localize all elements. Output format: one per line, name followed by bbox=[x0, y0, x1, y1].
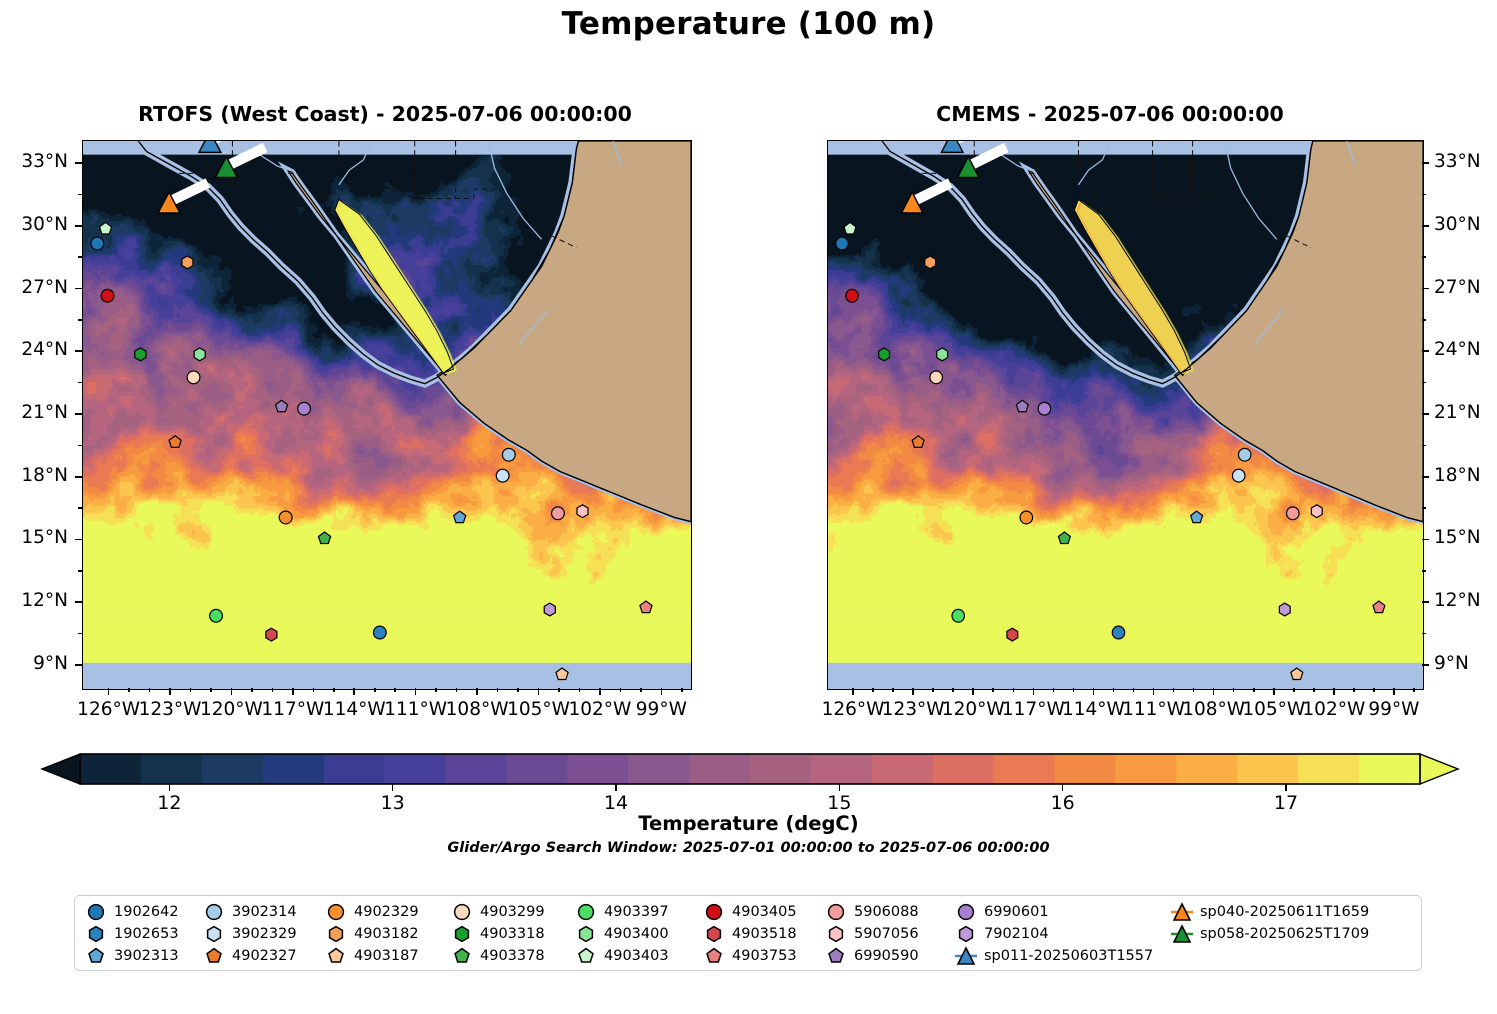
legend-item[interactable]: 3902314 bbox=[203, 901, 297, 923]
lon-tick-label: 99°W bbox=[619, 699, 703, 720]
lon-tick bbox=[538, 688, 540, 695]
lat-tick-minor bbox=[1422, 256, 1426, 258]
lat-tick-label: 21°N bbox=[0, 402, 68, 423]
lat-tick-label: 33°N bbox=[0, 151, 68, 172]
lat-tick-minor bbox=[78, 507, 82, 509]
lon-tick-minor bbox=[1193, 688, 1195, 692]
legend-item[interactable]: 1902653 bbox=[85, 923, 179, 945]
lon-tick-minor bbox=[1353, 688, 1355, 692]
legend-item-label: 4902329 bbox=[351, 904, 419, 920]
lon-tick-minor bbox=[1053, 688, 1055, 692]
lon-tick bbox=[1033, 688, 1035, 695]
search-window-note: Glider/Argo Search Window: 2025-07-01 00… bbox=[0, 840, 1497, 856]
legend-item-label: 1902653 bbox=[111, 926, 179, 942]
lon-tick-minor bbox=[1253, 688, 1255, 692]
lon-tick bbox=[169, 688, 171, 695]
lat-tick bbox=[1422, 664, 1429, 666]
argo-hexagon-marker-icon bbox=[325, 923, 351, 945]
lat-tick bbox=[1422, 288, 1429, 290]
lat-tick-label: 15°N bbox=[0, 527, 68, 548]
legend-item-label: 7902104 bbox=[981, 926, 1049, 942]
argo-pentagon-marker-icon bbox=[325, 945, 351, 967]
lon-tick bbox=[1393, 688, 1395, 695]
argo-hexagon-marker-icon bbox=[703, 923, 729, 945]
legend-item[interactable]: 3902329 bbox=[203, 923, 297, 945]
lon-tick bbox=[415, 688, 417, 695]
lon-tick-minor bbox=[333, 688, 335, 692]
lat-tick-minor bbox=[1422, 194, 1426, 196]
legend-item[interactable]: 4903182 bbox=[325, 923, 419, 945]
lat-tick bbox=[75, 162, 82, 164]
legend-column: 190264219026533902313 bbox=[85, 901, 179, 967]
lon-tick-minor bbox=[1073, 688, 1075, 692]
lon-tick-minor bbox=[313, 688, 315, 692]
argo-hexagon-marker-icon bbox=[203, 923, 229, 945]
legend-item-label: 1902642 bbox=[111, 904, 179, 920]
colorbar-tick bbox=[839, 784, 841, 791]
legend-column: 490329949033184903378 bbox=[451, 901, 545, 967]
lon-tick-minor bbox=[892, 688, 894, 692]
argo-pentagon-marker-icon bbox=[85, 945, 111, 967]
lat-tick-label: 18°N bbox=[0, 465, 68, 486]
legend-item-label: 4903187 bbox=[351, 948, 419, 964]
glider-marker-icon bbox=[955, 945, 981, 967]
lat-tick-label: 27°N bbox=[1434, 277, 1497, 298]
lon-tick-minor bbox=[251, 688, 253, 692]
legend-item[interactable]: 6990590 bbox=[825, 945, 919, 967]
lat-tick-minor bbox=[78, 319, 82, 321]
lon-tick bbox=[108, 688, 110, 695]
colorbar-tick bbox=[615, 784, 617, 791]
lat-tick-minor bbox=[78, 445, 82, 447]
lat-tick-minor bbox=[78, 256, 82, 258]
legend-item[interactable]: sp040-20250611T1659 bbox=[1171, 901, 1369, 923]
glider-marker-icon bbox=[1171, 901, 1197, 923]
colorbar-tick-label: 17 bbox=[1246, 792, 1326, 814]
lat-tick-minor bbox=[78, 633, 82, 635]
lat-tick-minor bbox=[78, 570, 82, 572]
lat-tick-minor bbox=[1422, 570, 1426, 572]
lat-tick-label: 30°N bbox=[0, 214, 68, 235]
legend-item-label: 4903400 bbox=[601, 926, 669, 942]
legend-item-label: 4903318 bbox=[477, 926, 545, 942]
lon-tick bbox=[599, 688, 601, 695]
lon-tick-minor bbox=[128, 688, 130, 692]
lat-tick-label: 30°N bbox=[1434, 214, 1497, 235]
figure-title: Temperature (100 m) bbox=[0, 6, 1497, 42]
legend-item[interactable]: 4903187 bbox=[325, 945, 419, 967]
lon-tick-minor bbox=[640, 688, 642, 692]
lon-tick-minor bbox=[394, 688, 396, 692]
lon-tick-minor bbox=[681, 688, 683, 692]
lon-tick bbox=[912, 688, 914, 695]
lon-tick-minor bbox=[1173, 688, 1175, 692]
lon-tick bbox=[852, 688, 854, 695]
legend-item-label: sp040-20250611T1659 bbox=[1197, 904, 1369, 920]
lat-tick-minor bbox=[1422, 445, 1426, 447]
lat-tick bbox=[1422, 476, 1429, 478]
colorbar-tick-label: 12 bbox=[129, 792, 209, 814]
lon-tick-minor bbox=[932, 688, 934, 692]
lat-tick-label: 15°N bbox=[1434, 527, 1497, 548]
lat-tick bbox=[1422, 162, 1429, 164]
legend-item[interactable]: 4903318 bbox=[451, 923, 545, 945]
map-panel-cmems[interactable] bbox=[827, 140, 1424, 690]
lat-tick-label: 33°N bbox=[1434, 151, 1497, 172]
legend-item-label: 4903378 bbox=[477, 948, 545, 964]
legend-item-label: sp058-20250625T1709 bbox=[1197, 926, 1369, 942]
lat-tick bbox=[75, 350, 82, 352]
lon-tick bbox=[661, 688, 663, 695]
lon-tick-minor bbox=[517, 688, 519, 692]
lon-tick-minor bbox=[872, 688, 874, 692]
lon-tick-minor bbox=[1233, 688, 1235, 692]
colorbar bbox=[40, 752, 1460, 786]
lon-tick-label: 99°W bbox=[1352, 699, 1436, 720]
legend-item[interactable]: 5906088 bbox=[825, 901, 919, 923]
legend-item[interactable]: 4903378 bbox=[451, 945, 545, 967]
lon-tick bbox=[1273, 688, 1275, 695]
legend-item-label: 6990590 bbox=[851, 948, 919, 964]
legend-item[interactable]: 4903400 bbox=[575, 923, 669, 945]
lat-tick bbox=[75, 539, 82, 541]
lat-tick-label: 12°N bbox=[1434, 590, 1497, 611]
lat-tick bbox=[75, 664, 82, 666]
legend-item-label: 4903182 bbox=[351, 926, 419, 942]
legend-item[interactable]: 4902329 bbox=[325, 901, 419, 923]
argo-hexagon-marker-icon bbox=[955, 923, 981, 945]
argo-pentagon-marker-icon bbox=[703, 945, 729, 967]
lon-tick bbox=[476, 688, 478, 695]
legend-item-label: 4903299 bbox=[477, 904, 545, 920]
legend-item[interactable]: 4903753 bbox=[703, 945, 797, 967]
lon-tick-minor bbox=[579, 688, 581, 692]
legend-item-label: 6990601 bbox=[981, 904, 1049, 920]
legend-item[interactable]: sp058-20250625T1709 bbox=[1171, 923, 1369, 945]
lon-tick-minor bbox=[374, 688, 376, 692]
lat-tick bbox=[1422, 539, 1429, 541]
argo-pentagon-marker-icon bbox=[575, 945, 601, 967]
legend[interactable]: 1902642190265339023133902314390232949023… bbox=[74, 895, 1422, 971]
lon-tick-minor bbox=[1293, 688, 1295, 692]
lat-tick bbox=[1422, 601, 1429, 603]
lon-tick bbox=[1093, 688, 1095, 695]
lon-tick bbox=[1333, 688, 1335, 695]
argo-pentagon-marker-icon bbox=[825, 945, 851, 967]
legend-item-label: sp011-20250603T1557 bbox=[981, 948, 1153, 964]
lon-tick-minor bbox=[497, 688, 499, 692]
colorbar-tick bbox=[1285, 784, 1287, 791]
argo-pentagon-marker-icon bbox=[451, 945, 477, 967]
legend-item[interactable]: 6990601 bbox=[955, 901, 1153, 923]
lon-tick-minor bbox=[952, 688, 954, 692]
argo-pentagon-marker-icon bbox=[203, 945, 229, 967]
lon-tick-minor bbox=[558, 688, 560, 692]
colorbar-tick bbox=[392, 784, 394, 791]
lon-tick-minor bbox=[149, 688, 151, 692]
legend-item-label: 3902313 bbox=[111, 948, 179, 964]
legend-item-label: 3902314 bbox=[229, 904, 297, 920]
lon-tick-minor bbox=[1373, 688, 1375, 692]
lat-tick bbox=[75, 225, 82, 227]
colorbar-tick-label: 14 bbox=[576, 792, 656, 814]
lat-tick-label: 9°N bbox=[0, 653, 68, 674]
lat-tick-label: 27°N bbox=[0, 277, 68, 298]
lat-tick-label: 21°N bbox=[1434, 402, 1497, 423]
legend-column: 590608859070566990590 bbox=[825, 901, 919, 967]
legend-item[interactable]: 4903397 bbox=[575, 901, 669, 923]
lon-tick bbox=[353, 688, 355, 695]
glider-marker-icon bbox=[1171, 923, 1197, 945]
legend-item[interactable]: 4903518 bbox=[703, 923, 797, 945]
lon-tick-minor bbox=[210, 688, 212, 692]
lon-tick-minor bbox=[456, 688, 458, 692]
lat-tick-label: 24°N bbox=[1434, 339, 1497, 360]
argo-hexagon-marker-icon bbox=[451, 923, 477, 945]
colorbar-tick-label: 15 bbox=[799, 792, 879, 814]
lat-tick bbox=[75, 601, 82, 603]
argo-hexagon-marker-icon bbox=[825, 923, 851, 945]
lon-tick-minor bbox=[190, 688, 192, 692]
colorbar-tick-label: 13 bbox=[353, 792, 433, 814]
legend-item[interactable]: 4902327 bbox=[203, 945, 297, 967]
colorbar-tick-label: 16 bbox=[1023, 792, 1103, 814]
legend-column: 390231439023294902327 bbox=[203, 901, 297, 967]
legend-item-label: 4903403 bbox=[601, 948, 669, 964]
lat-tick bbox=[1422, 413, 1429, 415]
panel-title-rtofs: RTOFS (West Coast) - 2025-07-06 00:00:00 bbox=[40, 102, 730, 126]
argo-circle-marker-icon bbox=[325, 901, 351, 923]
colorbar-title: Temperature (degC) bbox=[0, 812, 1497, 835]
lat-tick-minor bbox=[1422, 633, 1426, 635]
lon-tick-minor bbox=[992, 688, 994, 692]
lat-tick bbox=[75, 288, 82, 290]
legend-item[interactable]: 5907056 bbox=[825, 923, 919, 945]
legend-item[interactable]: 7902104 bbox=[955, 923, 1153, 945]
lon-tick bbox=[972, 688, 974, 695]
lat-tick bbox=[1422, 225, 1429, 227]
legend-item-label: 5907056 bbox=[851, 926, 919, 942]
lon-tick bbox=[292, 688, 294, 695]
argo-circle-marker-icon bbox=[575, 901, 601, 923]
argo-circle-marker-icon bbox=[955, 901, 981, 923]
lon-tick-minor bbox=[620, 688, 622, 692]
lat-tick-minor bbox=[78, 194, 82, 196]
colorbar-tick bbox=[169, 784, 171, 791]
lat-tick-label: 24°N bbox=[0, 339, 68, 360]
argo-circle-marker-icon bbox=[203, 901, 229, 923]
lon-tick-minor bbox=[1013, 688, 1015, 692]
lat-tick-label: 9°N bbox=[1434, 653, 1497, 674]
lat-tick bbox=[75, 476, 82, 478]
lat-tick-minor bbox=[1422, 382, 1426, 384]
legend-item[interactable]: 4903403 bbox=[575, 945, 669, 967]
legend-column: sp040-20250611T1659sp058-20250625T1709 bbox=[1171, 901, 1369, 945]
lon-tick-minor bbox=[1113, 688, 1115, 692]
argo-hexagon-marker-icon bbox=[575, 923, 601, 945]
argo-circle-marker-icon bbox=[703, 901, 729, 923]
lon-tick-minor bbox=[1313, 688, 1315, 692]
colorbar-tick bbox=[1062, 784, 1064, 791]
lon-tick bbox=[1153, 688, 1155, 695]
legend-item-label: 4903518 bbox=[729, 926, 797, 942]
argo-circle-marker-icon bbox=[825, 901, 851, 923]
lon-tick-minor bbox=[435, 688, 437, 692]
legend-item-label: 4903753 bbox=[729, 948, 797, 964]
lon-tick-minor bbox=[272, 688, 274, 692]
lon-tick bbox=[1213, 688, 1215, 695]
legend-item[interactable]: 4903299 bbox=[451, 901, 545, 923]
lon-tick-minor bbox=[1413, 688, 1415, 692]
lat-tick-label: 18°N bbox=[1434, 465, 1497, 486]
lat-tick-minor bbox=[1422, 507, 1426, 509]
lat-tick-minor bbox=[1422, 319, 1426, 321]
panel-title-cmems: CMEMS - 2025-07-06 00:00:00 bbox=[800, 102, 1420, 126]
lat-tick-minor bbox=[78, 382, 82, 384]
legend-item-label: 5906088 bbox=[851, 904, 919, 920]
lat-tick-label: 12°N bbox=[0, 590, 68, 611]
argo-hexagon-marker-icon bbox=[85, 923, 111, 945]
lon-tick bbox=[231, 688, 233, 695]
legend-item-label: 4902327 bbox=[229, 948, 297, 964]
legend-column: 490232949031824903187 bbox=[325, 901, 419, 967]
legend-item-label: 4903405 bbox=[729, 904, 797, 920]
legend-item[interactable]: 1902642 bbox=[85, 901, 179, 923]
legend-item[interactable]: sp011-20250603T1557 bbox=[955, 945, 1153, 967]
legend-item-label: 3902329 bbox=[229, 926, 297, 942]
lat-tick bbox=[1422, 350, 1429, 352]
lon-tick-minor bbox=[1133, 688, 1135, 692]
legend-column: 490340549035184903753 bbox=[703, 901, 797, 967]
legend-column: 69906017902104sp011-20250603T1557 bbox=[955, 901, 1153, 967]
map-panel-rtofs[interactable] bbox=[82, 140, 692, 690]
lat-tick bbox=[75, 413, 82, 415]
legend-item[interactable]: 4903405 bbox=[703, 901, 797, 923]
legend-item[interactable]: 3902313 bbox=[85, 945, 179, 967]
legend-item-label: 4903397 bbox=[601, 904, 669, 920]
legend-column: 490339749034004903403 bbox=[575, 901, 669, 967]
argo-circle-marker-icon bbox=[451, 901, 477, 923]
argo-circle-marker-icon bbox=[85, 901, 111, 923]
